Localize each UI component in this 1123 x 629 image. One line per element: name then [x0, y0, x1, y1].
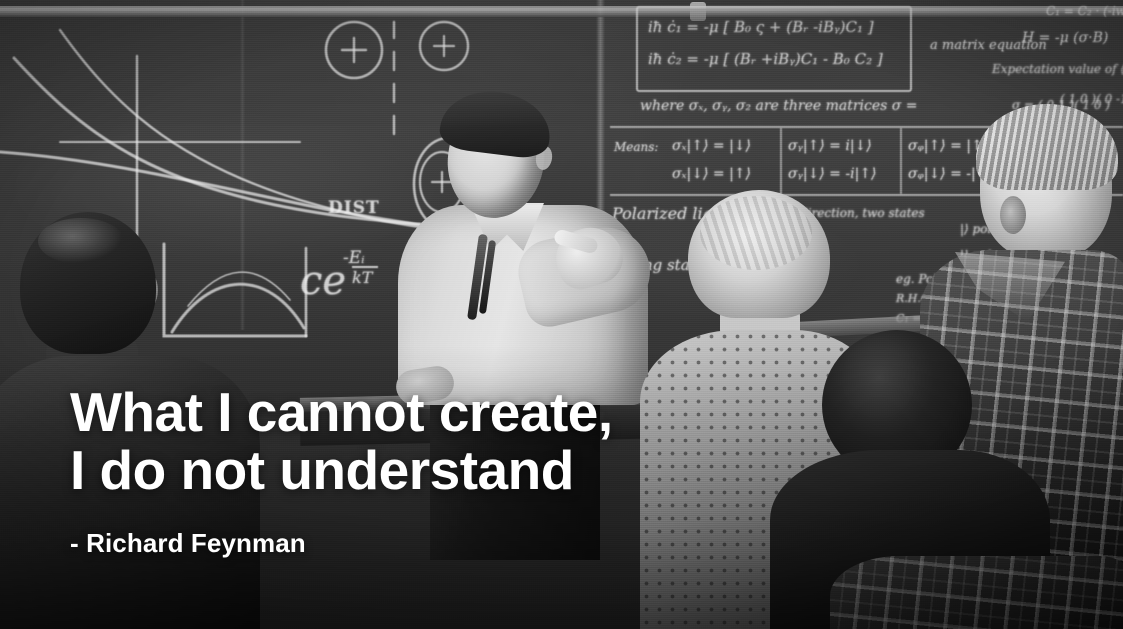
plaid-pattern-foreground	[830, 556, 1123, 629]
quote-line-2: I do not understand	[70, 441, 830, 499]
student-plaid-ear	[1000, 196, 1026, 234]
quote-attribution: - Richard Feynman	[70, 528, 306, 559]
student-blonde-hair-texture	[700, 196, 812, 270]
chalk-rail	[0, 6, 1123, 17]
student-left-hair-highlight	[38, 218, 124, 264]
chalk-table-divider-1	[780, 128, 782, 194]
quote-block: What I cannot create, I do not understan…	[70, 383, 830, 499]
blackboard-seam-secondary	[240, 0, 245, 330]
student-plaid-shoulder-foreground	[830, 556, 1123, 629]
quote-line-1: What I cannot create,	[70, 383, 830, 441]
quote-image: DIST ce -Eᵢ kT iħ ċ₁ = -μ [ B₀ ς + (Bᵣ -…	[0, 0, 1123, 629]
chalk-equation-box	[636, 6, 912, 92]
chalk-table-divider-2	[900, 128, 902, 194]
